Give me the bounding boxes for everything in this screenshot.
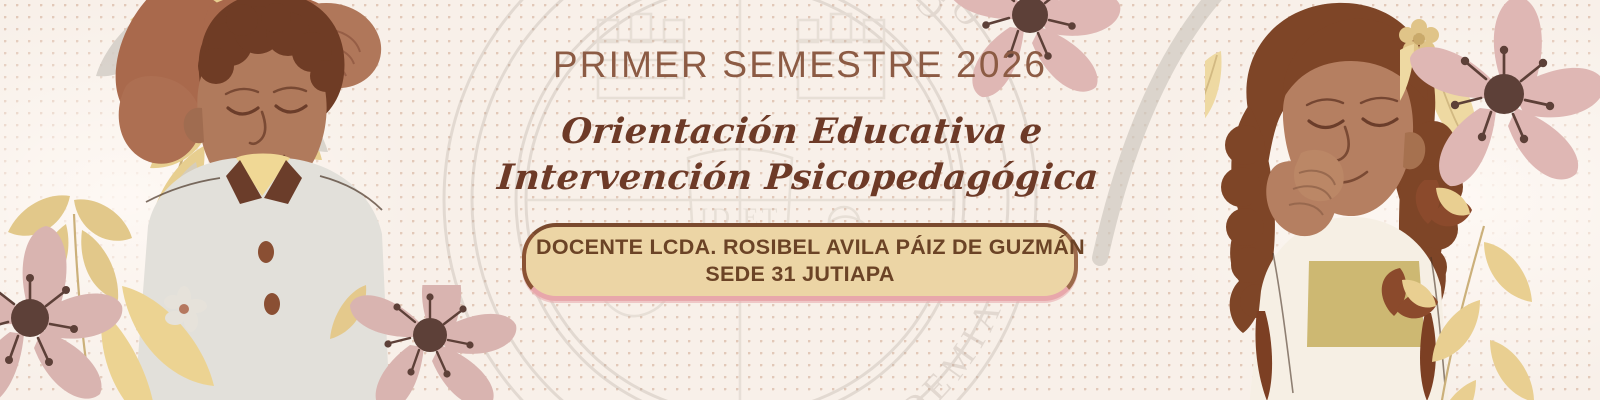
course-subtitle: Orientación Educativa e Intervención Psi… (476, 109, 1124, 201)
teacher-badge: DOCENTE LCDA. ROSIBEL AVILA PÁIZ DE GUZM… (522, 223, 1078, 300)
teacher-name-line: DOCENTE LCDA. ROSIBEL AVILA PÁIZ DE GUZM… (536, 234, 1064, 260)
banner-content: PRIMER SEMESTRE 2026 Orientación Educati… (0, 0, 1600, 400)
campus-line: SEDE 31 JUTIAPA (536, 261, 1064, 287)
page-title: PRIMER SEMESTRE 2026 (553, 46, 1047, 83)
banner-root: ERAS ORBIS CO ACADEMIA CAROLINA (0, 0, 1600, 400)
